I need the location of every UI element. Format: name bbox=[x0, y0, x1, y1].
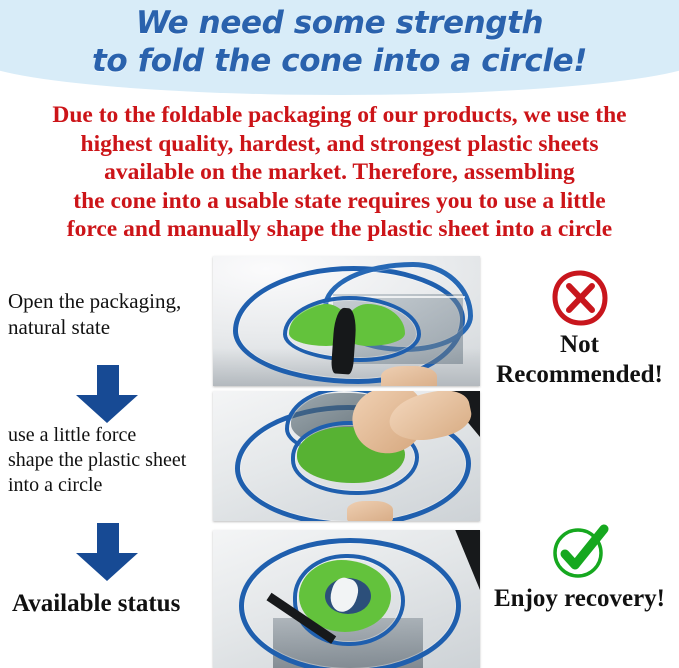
paragraph-line: Due to the foldable packaging of our pro… bbox=[6, 101, 673, 130]
step-1-label: Open the packaging, natural state bbox=[8, 288, 208, 340]
step-3-label: Available status bbox=[12, 589, 212, 619]
hand-icon bbox=[347, 501, 393, 521]
circle-check-icon bbox=[549, 524, 611, 582]
infographic-page: We need some strength to fold the cone i… bbox=[0, 0, 679, 668]
arrow-down-icon bbox=[76, 365, 138, 423]
step-2-label: use a little force shape the plastic she… bbox=[8, 423, 213, 498]
paragraph-line: highest quality, hardest, and strongest … bbox=[6, 130, 673, 159]
paragraph-line: available on the market. Therefore, asse… bbox=[6, 158, 673, 187]
hand-icon bbox=[381, 366, 437, 386]
arrow-down-icon bbox=[76, 523, 138, 581]
banner-title-line2: to fold the cone into a circle! bbox=[0, 42, 679, 80]
step-2-label-line: shape the plastic sheet bbox=[8, 448, 213, 473]
step-2-photo bbox=[213, 391, 480, 521]
circle-x-icon bbox=[550, 268, 610, 328]
step-3-photo bbox=[213, 530, 480, 668]
paragraph-line: force and manually shape the plastic she… bbox=[6, 215, 673, 244]
header-banner: We need some strength to fold the cone i… bbox=[0, 0, 679, 100]
verdict-not-recommended-caption: Not Recommended! bbox=[482, 330, 677, 390]
verdict-enjoy-recovery: Enjoy recovery! bbox=[482, 524, 677, 614]
step-3-label-line: Available status bbox=[12, 589, 212, 619]
banner-title: We need some strength to fold the cone i… bbox=[0, 4, 679, 80]
step-1-label-line: natural state bbox=[8, 314, 208, 340]
banner-title-line1: We need some strength bbox=[136, 5, 543, 41]
intro-paragraph: Due to the foldable packaging of our pro… bbox=[6, 101, 673, 244]
step-1-label-line: Open the packaging, bbox=[8, 288, 208, 314]
paragraph-line: the cone into a usable state requires yo… bbox=[6, 187, 673, 216]
step-2-label-line: use a little force bbox=[8, 423, 213, 448]
verdict-not-recommended: Not Recommended! bbox=[482, 268, 677, 390]
step-2-label-line: into a circle bbox=[8, 473, 213, 498]
step-1-photo bbox=[213, 256, 480, 386]
verdict-enjoy-recovery-caption: Enjoy recovery! bbox=[482, 584, 677, 614]
